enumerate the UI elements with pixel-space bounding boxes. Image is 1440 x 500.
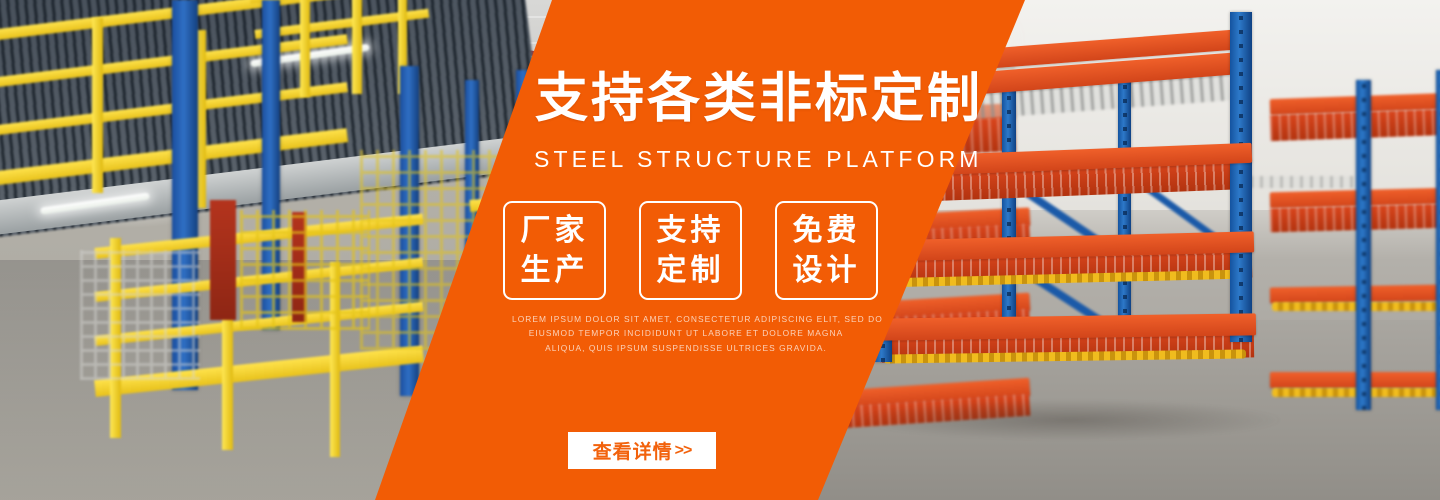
badge-line-1: 支持 [657, 211, 725, 251]
badge-line-1: 厂家 [521, 211, 589, 251]
banner-content: 支持各类非标定制 STEEL STRUCTURE PLATFORM 厂家 生产 … [0, 0, 1440, 500]
description-line-2: EIUSMOD TEMPOR INCIDIDUNT UT LABORE ET D… [512, 326, 860, 340]
page-title: 支持各类非标定制 [535, 72, 983, 125]
chevron-right-icon: >> [675, 442, 692, 460]
view-details-button[interactable]: 查看详情 >> [568, 432, 716, 469]
promo-banner: 支持各类非标定制 STEEL STRUCTURE PLATFORM 厂家 生产 … [0, 0, 1440, 500]
badge-line-2: 生产 [521, 251, 589, 291]
badge-line-1: 免费 [793, 211, 861, 251]
badge-line-2: 定制 [657, 251, 725, 291]
badge-line-2: 设计 [793, 251, 861, 291]
view-details-label: 查看详情 [593, 437, 673, 464]
badge-supports-customization: 支持 定制 [639, 201, 742, 300]
badge-free-design: 免费 设计 [775, 201, 878, 300]
banner-subtitle: STEEL STRUCTURE PLATFORM [534, 146, 983, 173]
feature-badge-group: 厂家 生产 支持 定制 免费 设计 [503, 201, 878, 300]
banner-description: LOREM IPSUM DOLOR SIT AMET, CONSECTETUR … [512, 312, 860, 355]
description-line-1: LOREM IPSUM DOLOR SIT AMET, CONSECTETUR … [512, 312, 860, 326]
badge-manufacturer-production: 厂家 生产 [503, 201, 606, 300]
description-line-3: ALIQUA, QUIS IPSUM SUSPENDISSE ULTRICES … [512, 341, 860, 355]
